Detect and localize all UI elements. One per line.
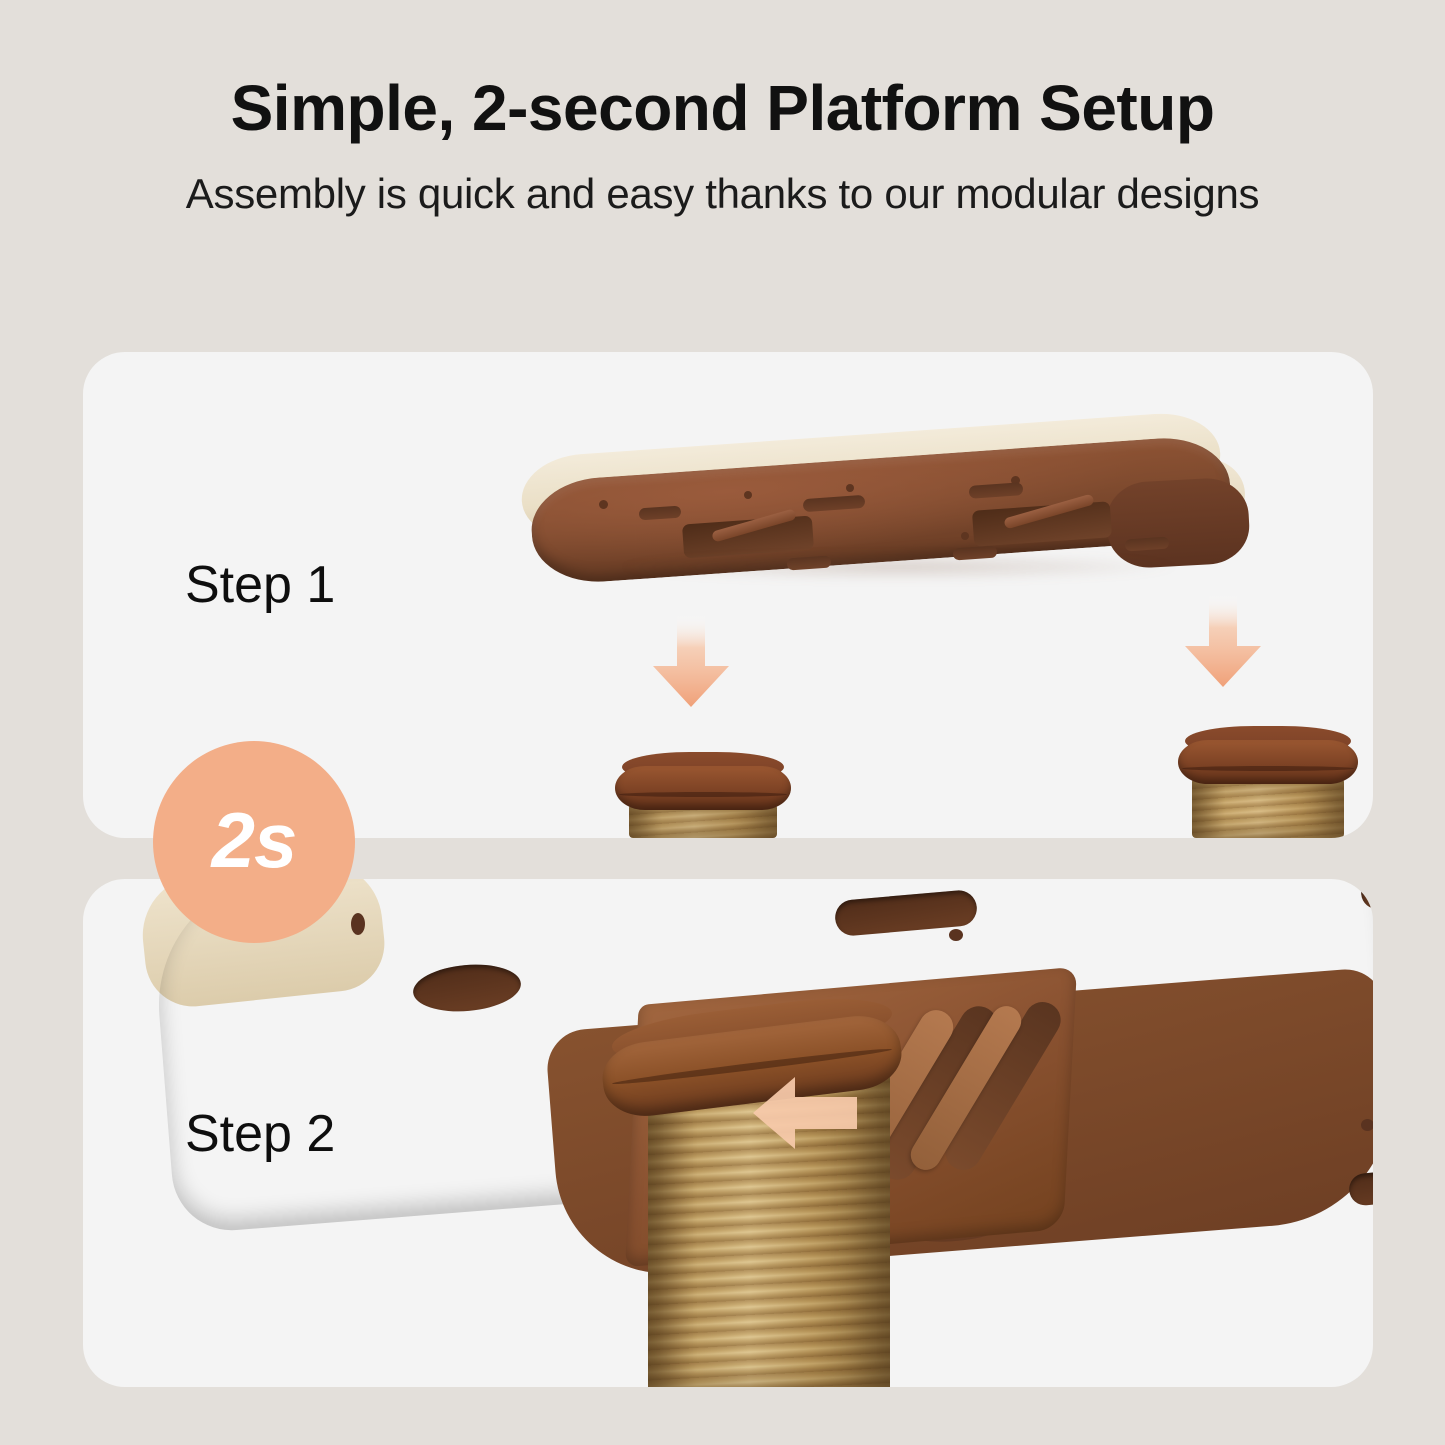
step-1-label: Step 1 xyxy=(185,555,335,615)
mount-hole xyxy=(744,491,752,499)
post-cap xyxy=(1178,726,1358,786)
mount-hole xyxy=(599,500,608,509)
left-arrow-icon xyxy=(751,1071,859,1155)
sisal-post xyxy=(615,752,791,838)
duration-badge-label: 2s xyxy=(212,795,297,886)
post-cap-groove xyxy=(619,792,788,797)
duration-badge: 2s xyxy=(153,741,355,943)
step-2-label: Step 2 xyxy=(185,1104,335,1164)
page-subtitle: Assembly is quick and easy thanks to our… xyxy=(0,140,1445,215)
mount-hole xyxy=(351,913,365,935)
platform-shadow xyxy=(619,554,1179,580)
mount-hole xyxy=(949,929,963,941)
sisal-rope-wrap xyxy=(1192,778,1343,838)
post-cap xyxy=(615,752,791,812)
post-cap-groove xyxy=(1182,766,1355,771)
post-cap-ring xyxy=(615,766,791,810)
infographic-root: Simple, 2-second Platform Setup Assembly… xyxy=(0,0,1445,1445)
down-arrow-icon xyxy=(652,616,730,708)
mount-hole xyxy=(961,532,969,540)
page-title: Simple, 2-second Platform Setup xyxy=(0,0,1445,140)
down-arrow-icon xyxy=(1184,596,1262,688)
header: Simple, 2-second Platform Setup Assembly… xyxy=(0,0,1445,215)
mount-hole xyxy=(846,484,854,492)
mount-hole xyxy=(1361,1119,1373,1131)
sisal-post xyxy=(1178,726,1358,838)
platform-board xyxy=(521,434,1241,569)
step-2-card: Step 2 xyxy=(83,879,1373,1387)
post-cap-ring xyxy=(1178,740,1358,784)
